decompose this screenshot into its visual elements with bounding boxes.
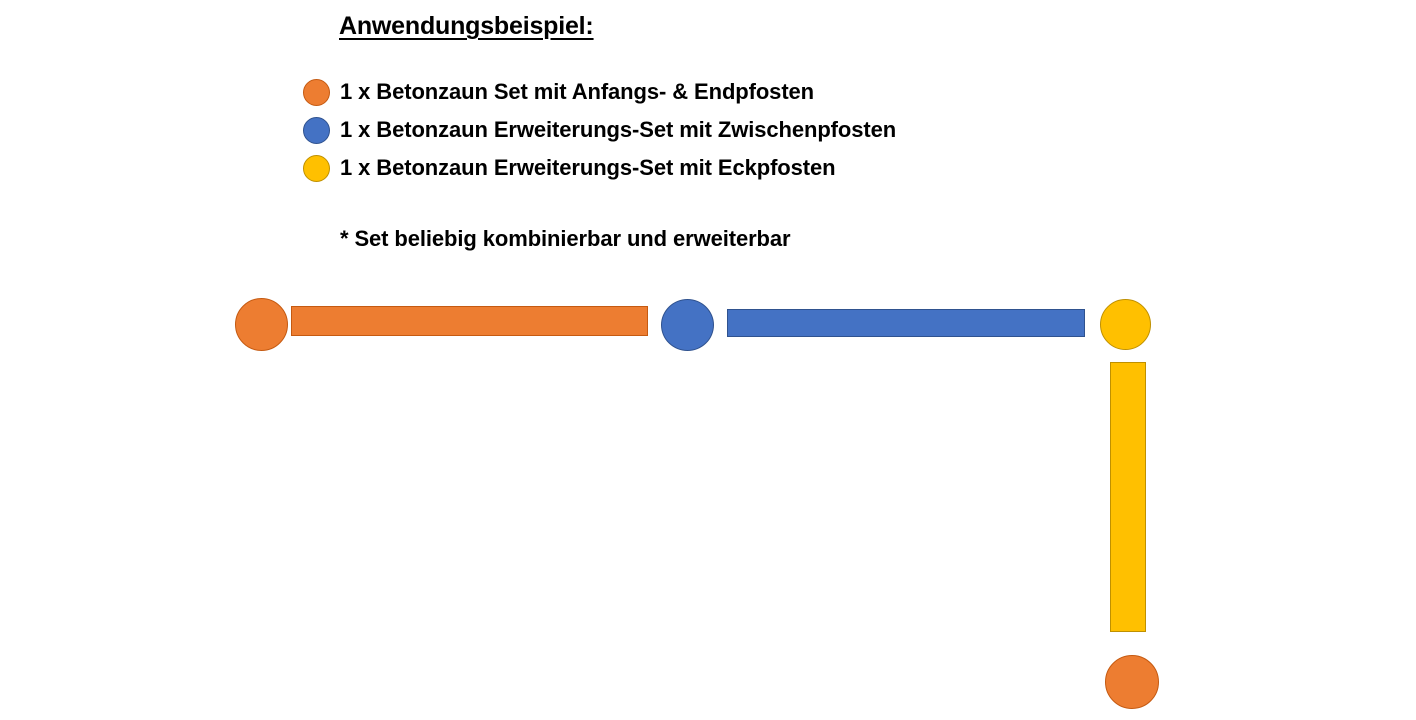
diagram-panel-yellow-vertical-bar: [1110, 362, 1146, 632]
diagram-post-middle-circle: [661, 299, 714, 351]
diagram-panel-orange-bar: [291, 306, 648, 336]
legend-item-label: 1 x Betonzaun Erweiterungs-Set mit Zwisc…: [340, 119, 896, 141]
footnote-text: * Set beliebig kombinierbar und erweiter…: [340, 226, 790, 252]
slide-canvas: Anwendungsbeispiel: 1 x Betonzaun Set mi…: [0, 0, 1416, 720]
legend-item-zwischenpfosten: 1 x Betonzaun Erweiterungs-Set mit Zwisc…: [303, 111, 1063, 149]
legend-list: 1 x Betonzaun Set mit Anfangs- & Endpfos…: [303, 73, 1063, 187]
legend-item-label: 1 x Betonzaun Set mit Anfangs- & Endpfos…: [340, 81, 814, 103]
page-title: Anwendungsbeispiel:: [339, 12, 594, 41]
yellow-circle-bullet-icon: [303, 155, 330, 182]
blue-circle-bullet-icon: [303, 117, 330, 144]
diagram-post-start-circle: [235, 298, 288, 351]
diagram-post-end-circle: [1105, 655, 1159, 709]
legend-item-anfangs-endpfosten: 1 x Betonzaun Set mit Anfangs- & Endpfos…: [303, 73, 1063, 111]
legend-item-eckpfosten: 1 x Betonzaun Erweiterungs-Set mit Eckpf…: [303, 149, 1063, 187]
diagram-post-corner-circle: [1100, 299, 1151, 350]
orange-circle-bullet-icon: [303, 79, 330, 106]
legend-item-label: 1 x Betonzaun Erweiterungs-Set mit Eckpf…: [340, 157, 836, 179]
diagram-panel-blue-bar: [727, 309, 1085, 337]
